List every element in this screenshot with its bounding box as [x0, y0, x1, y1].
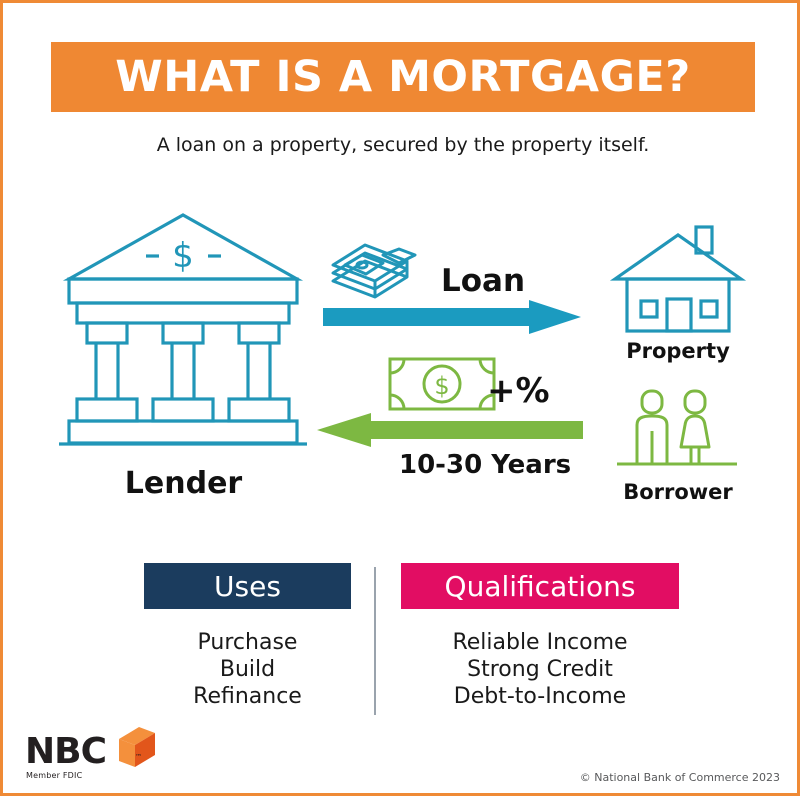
list-item: Refinance	[144, 683, 351, 710]
list-item: Strong Credit	[401, 656, 679, 683]
panel-qualifications-title: Qualifications	[445, 570, 636, 603]
borrower-group: Borrower	[603, 385, 753, 515]
list-item: Debt-to-Income	[401, 683, 679, 710]
member-fdic-label: Member FDIC	[26, 771, 82, 780]
bottom-panels: Uses Purchase Build Refinance Qualificat…	[3, 563, 800, 723]
property-label: Property	[603, 339, 753, 363]
repayment-term-label: 10-30 Years	[399, 450, 571, 480]
page-subtitle: A loan on a property, secured by the pro…	[3, 134, 800, 156]
panel-qualifications-header: Qualifications	[401, 563, 679, 609]
nbc-wordmark: NBC	[25, 731, 106, 772]
list-item: Purchase	[144, 629, 351, 656]
two-people-icon	[603, 385, 753, 480]
list-item: Reliable Income	[401, 629, 679, 656]
copyright-notice: © National Bank of Commerce 2023	[580, 771, 780, 784]
infographic-canvas: WHAT IS A MORTGAGE? A loan on a property…	[0, 0, 800, 796]
svg-text:$: $	[172, 236, 194, 276]
house-icon	[603, 217, 753, 337]
borrower-label: Borrower	[603, 480, 753, 504]
panel-qualifications-list: Reliable Income Strong Credit Debt-to-In…	[401, 629, 679, 710]
banknote-icon: $	[387, 355, 497, 413]
panel-uses-list: Purchase Build Refinance	[144, 629, 351, 710]
lender-label: Lender	[51, 466, 316, 501]
page-title: WHAT IS A MORTGAGE?	[115, 52, 690, 102]
loan-label: Loan	[441, 263, 525, 299]
title-banner: WHAT IS A MORTGAGE?	[51, 42, 755, 112]
repayment-arrow-left	[315, 413, 583, 447]
panel-uses-title: Uses	[214, 570, 281, 603]
nbc-logo: NBC ™ Member FDIC	[25, 725, 200, 781]
list-item: Build	[144, 656, 351, 683]
property-group: Property	[603, 217, 753, 362]
interest-percent-label: +%	[487, 371, 550, 411]
lender-group: $	[51, 201, 316, 513]
repayment-flow-group: $ +% 10-30 Years	[315, 355, 583, 485]
loan-arrow-right	[323, 300, 583, 334]
money-stack-icon	[329, 239, 449, 301]
panel-qualifications: Qualifications Reliable Income Strong Cr…	[401, 563, 679, 710]
panel-uses: Uses Purchase Build Refinance	[144, 563, 351, 710]
panel-divider	[374, 567, 376, 715]
loan-flow-group: Loan	[323, 239, 583, 334]
bank-icon: $	[51, 201, 316, 461]
panel-uses-header: Uses	[144, 563, 351, 609]
trademark-mark: ™	[135, 753, 142, 761]
svg-text:$: $	[434, 372, 449, 400]
